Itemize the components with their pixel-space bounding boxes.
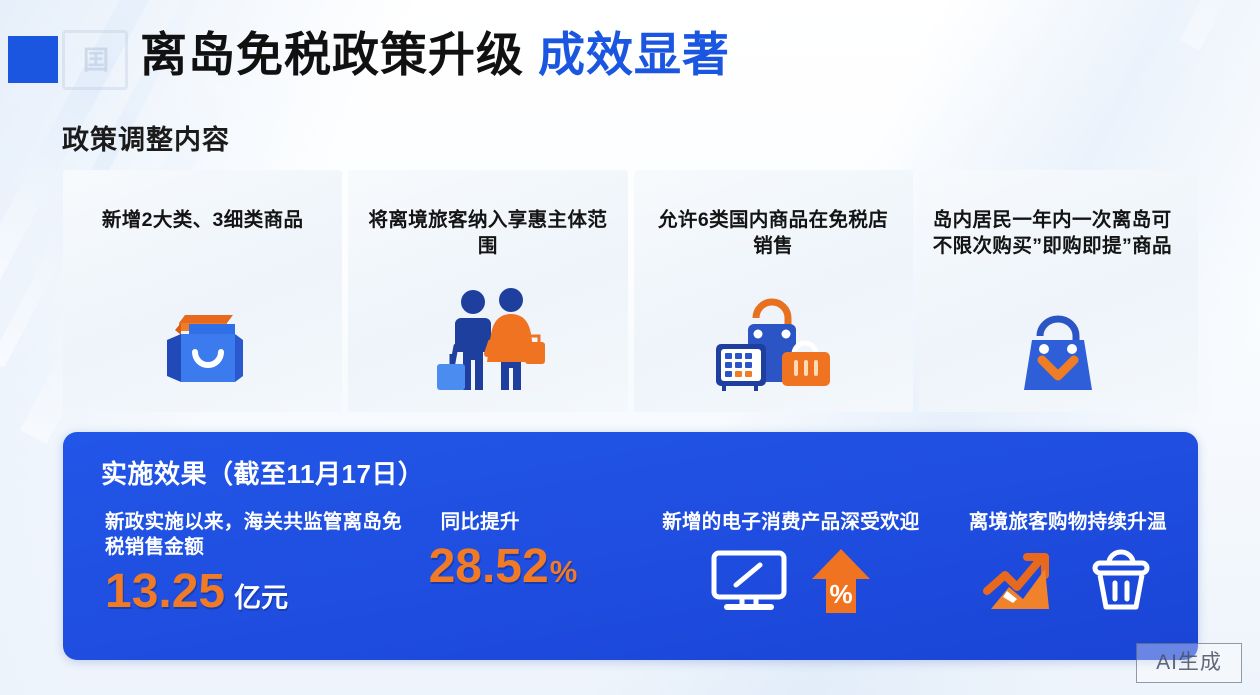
ai-generated-watermark: AI生成 xyxy=(1136,643,1242,683)
couple-travelers-icon xyxy=(348,286,627,394)
stat-label: 新增的电子消费产品深受欢迎 xyxy=(638,510,944,535)
stat-label: 离境旅客购物持续升温 xyxy=(948,510,1188,535)
policy-card-text: 新增2大类、3细类商品 xyxy=(83,207,323,233)
implementation-results-banner: 实施效果（截至11月17日） 新政实施以来，海关共监管离岛免税销售金额 13.2… xyxy=(63,432,1198,660)
policy-card-new-categories[interactable]: 新增2大类、3细类商品 xyxy=(63,170,342,412)
stat-icon-group xyxy=(948,547,1188,618)
duty-free-goods-icon xyxy=(634,294,913,394)
policy-card-text: 岛内居民一年内一次离岛可不限次购买”即购即提”商品 xyxy=(933,207,1184,259)
handbag-check-icon xyxy=(919,302,1198,398)
section-label-policy-adjustments: 政策调整内容 xyxy=(62,118,230,157)
policy-card-text: 将离境旅客纳入享惠主体范围 xyxy=(368,207,608,259)
policy-card-list: 新增2大类、3细类商品 将离境旅客纳入享惠主体范围 xyxy=(63,170,1198,412)
page-title: 离岛免税政策升级成效显著 xyxy=(140,27,730,83)
stat-duty-free-sales: 新政实施以来，海关共监管离岛免税销售金额 13.25亿元 xyxy=(89,510,413,626)
banner-title: 实施效果（截至11月17日） xyxy=(101,454,424,491)
shopping-basket-icon xyxy=(1089,547,1153,618)
stat-value: 28.52% xyxy=(423,539,633,600)
stat-value: 13.25亿元 xyxy=(105,564,413,626)
policy-card-unlimited-purchase[interactable]: 岛内居民一年内一次离岛可不限次购买”即购即提”商品 xyxy=(919,170,1198,412)
policy-card-text: 允许6类国内商品在免税店销售 xyxy=(653,207,893,259)
stat-icon-group: % xyxy=(638,547,944,620)
stat-departing-traveler-shopping: 离境旅客购物持续升温 xyxy=(944,510,1188,618)
svg-text:%: % xyxy=(829,579,852,609)
brand-square-mark xyxy=(8,36,58,83)
stat-unit: 亿元 xyxy=(234,583,288,613)
banner-stats-row: 新政实施以来，海关共监管离岛免税销售金额 13.25亿元 同比提升 28.52%… xyxy=(89,510,1188,626)
stat-label: 同比提升 xyxy=(423,510,633,535)
stat-number: 13.25 xyxy=(105,565,225,618)
page-title-accent: 成效显著 xyxy=(538,28,730,81)
stat-electronics-popular: 新增的电子消费产品深受欢迎 % xyxy=(632,510,944,620)
stat-yoy-growth: 同比提升 28.52% xyxy=(413,510,633,600)
slide-canvas: 囯 离岛免税政策升级成效显著 政策调整内容 新增2大类、3细类商品 xyxy=(0,0,1260,695)
page-title-main: 离岛免税政策升级 xyxy=(140,28,524,81)
stat-label: 新政实施以来，海关共监管离岛免税销售金额 xyxy=(105,510,413,560)
policy-card-departing-travelers[interactable]: 将离境旅客纳入享惠主体范围 xyxy=(348,170,627,412)
percent-up-arrow-icon: % xyxy=(810,547,872,620)
monitor-icon xyxy=(710,549,788,618)
ghost-logo-watermark: 囯 xyxy=(62,30,128,90)
shopping-bag-box-icon xyxy=(63,290,342,394)
stat-percent-sign: % xyxy=(550,554,578,589)
trending-up-arrow-icon xyxy=(983,547,1067,618)
stat-number: 28.52 xyxy=(429,540,549,593)
policy-card-domestic-goods[interactable]: 允许6类国内商品在免税店销售 xyxy=(634,170,913,412)
slide-header: 囯 离岛免税政策升级成效显著 xyxy=(0,0,1260,104)
